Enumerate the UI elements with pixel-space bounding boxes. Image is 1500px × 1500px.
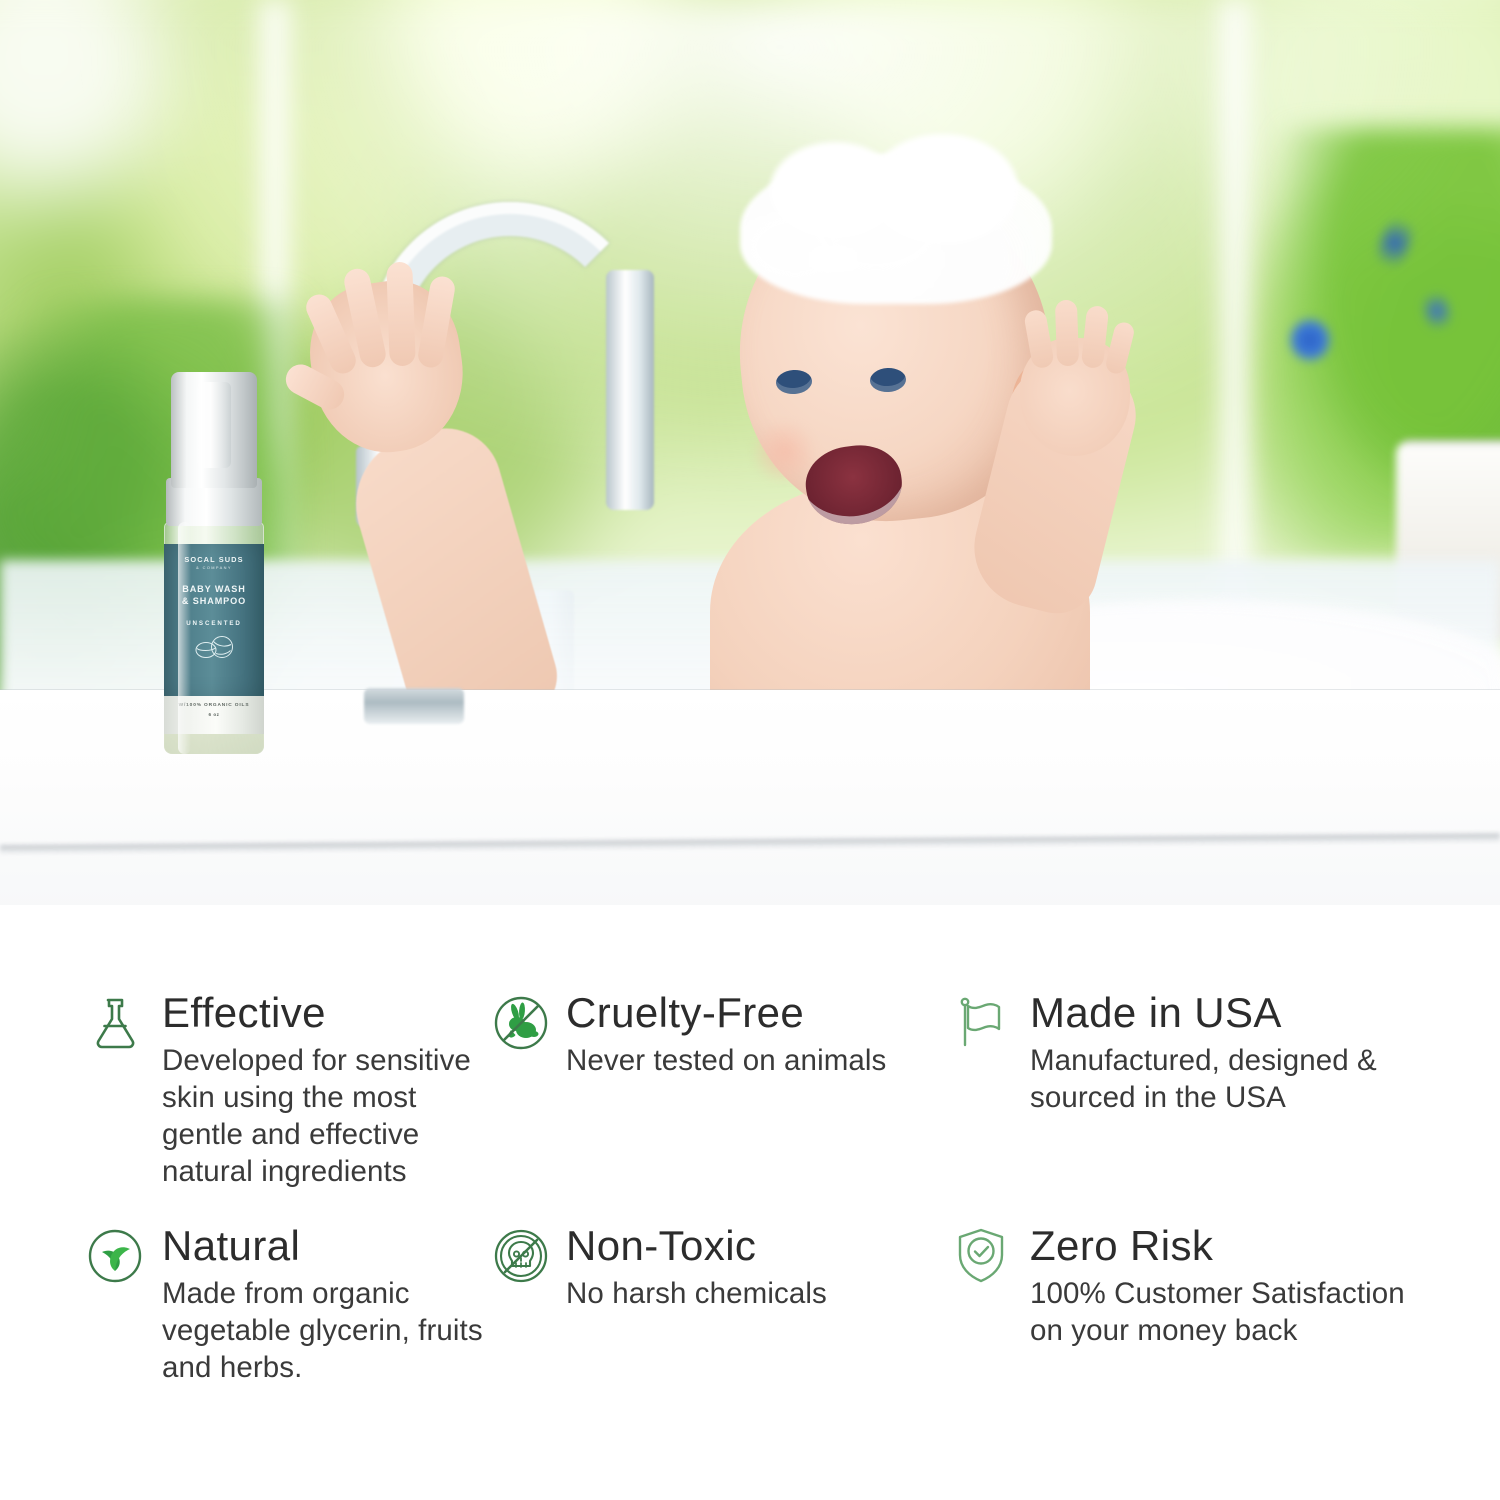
hero-photo: SOCAL SUDS & COMPANY BABY WASH & SHAMPOO…: [0, 0, 1500, 905]
feature-title: Effective: [162, 990, 490, 1036]
feature-desc: No harsh chemicals: [566, 1275, 950, 1312]
flask-icon: [84, 992, 146, 1054]
feature-natural: Natural Made from organic vegetable glyc…: [0, 1223, 490, 1386]
feature-text: Effective Developed for sensitive skin u…: [162, 990, 490, 1190]
bottle-pump-cap: [171, 372, 257, 488]
flag-icon: [950, 992, 1012, 1054]
feature-text: Non-Toxic No harsh chemicals: [566, 1223, 950, 1312]
feature-text: Cruelty-Free Never tested on animals: [566, 990, 950, 1079]
feature-desc: Developed for sensitive skin using the m…: [162, 1042, 490, 1190]
feature-cruelty-free: Cruelty-Free Never tested on animals: [490, 990, 950, 1190]
baby-finger: [1055, 300, 1079, 367]
bottle-highlight: [178, 522, 191, 754]
baby-finger: [1104, 320, 1136, 375]
shield-check-icon: [950, 1225, 1012, 1287]
no-skull-icon: [490, 1225, 552, 1287]
feature-text: Made in USA Manufactured, designed & sou…: [1030, 990, 1420, 1116]
feature-effective: Effective Developed for sensitive skin u…: [0, 990, 490, 1190]
feature-row-2: Natural Made from organic vegetable glyc…: [0, 1223, 1500, 1386]
pump-stem: [197, 382, 231, 468]
feature-benefits-panel: Effective Developed for sensitive skin u…: [0, 905, 1500, 1500]
feature-desc: 100% Customer Satisfaction on your money…: [1030, 1275, 1420, 1349]
cruelty-free-rabbit-icon: [490, 992, 552, 1054]
feature-title: Non-Toxic: [566, 1223, 950, 1269]
feature-zero-risk: Zero Risk 100% Customer Satisfaction on …: [950, 1223, 1420, 1386]
feature-made-in-usa: Made in USA Manufactured, designed & sou…: [950, 990, 1420, 1190]
feature-desc: Manufactured, designed & sourced in the …: [1030, 1042, 1420, 1116]
leaf-icon: [84, 1225, 146, 1287]
feature-title: Zero Risk: [1030, 1223, 1420, 1269]
feature-desc: Never tested on animals: [566, 1042, 950, 1079]
baby-finger: [386, 262, 416, 367]
product-listing-image: SOCAL SUDS & COMPANY BABY WASH & SHAMPOO…: [0, 0, 1500, 1500]
feature-title: Made in USA: [1030, 990, 1420, 1036]
feature-title: Natural: [162, 1223, 490, 1269]
feature-title: Cruelty-Free: [566, 990, 950, 1036]
feature-non-toxic: Non-Toxic No harsh chemicals: [490, 1223, 950, 1386]
baby-in-bath: [620, 160, 1180, 780]
feature-text: Zero Risk 100% Customer Satisfaction on …: [1030, 1223, 1420, 1349]
feature-text: Natural Made from organic vegetable glyc…: [162, 1223, 490, 1386]
blue-flower: [1290, 318, 1330, 362]
feature-desc: Made from organic vegetable glycerin, fr…: [162, 1275, 490, 1386]
foam-blob: [750, 216, 840, 278]
sink-drain-fitting: [364, 688, 464, 724]
product-bottle: SOCAL SUDS & COMPANY BABY WASH & SHAMPOO…: [160, 372, 268, 757]
feature-row-1: Effective Developed for sensitive skin u…: [0, 990, 1500, 1190]
